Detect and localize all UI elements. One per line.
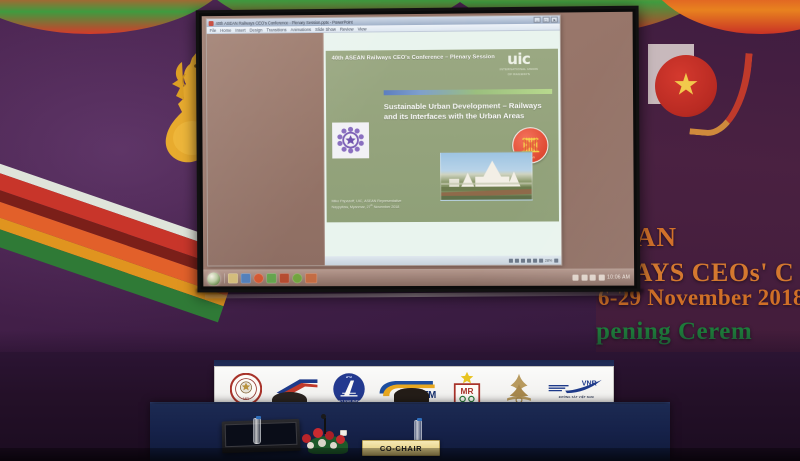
svg-text:MR: MR	[243, 397, 249, 401]
security-icon[interactable]	[590, 275, 596, 281]
backdrop-line-1: AN	[636, 222, 677, 253]
water-bottle-left	[253, 418, 261, 444]
slide-header: 40th ASEAN Railways CEO's Conference – P…	[332, 54, 495, 61]
slide-thumbnail-pane[interactable]	[207, 33, 325, 266]
microphone-stand	[324, 418, 326, 434]
network-icon[interactable]	[573, 275, 579, 281]
foreground-vignette	[0, 448, 800, 461]
conference-hall-scene: ★ AN WAYS CEOs' C 6-29 November 2018 pen…	[0, 0, 800, 461]
close-button[interactable]: ✕	[551, 17, 558, 23]
menu-item-view[interactable]: View	[358, 26, 367, 31]
zoom-level[interactable]: 28%	[545, 258, 552, 262]
uic-logo: uic INTERNATIONAL UNION OF RAILWAYS	[488, 53, 551, 77]
explorer-icon[interactable]	[228, 273, 238, 283]
slide-accent-bar	[384, 89, 552, 95]
ppt-window-button[interactable]	[305, 273, 317, 283]
quick-launch-bar[interactable]	[224, 273, 317, 283]
pagoda-railway-photo	[440, 151, 533, 201]
window-title: 40th ASEAN Railways CEO's Conference - P…	[216, 19, 353, 25]
taskbar-clock[interactable]: 10:06 AM	[607, 275, 630, 281]
uic-subtitle-2: OF RAILWAYS	[488, 72, 550, 77]
powerpoint-status-bar[interactable]: 28%	[325, 256, 561, 266]
browser-icon[interactable]	[241, 273, 251, 283]
slide-canvas-area[interactable]: 40th ASEAN Railways CEO's Conference – P…	[324, 31, 562, 266]
slide-sorter-icon[interactable]	[515, 258, 519, 262]
asean-railways-emblem-icon	[332, 122, 369, 158]
laptop-screen	[225, 422, 298, 447]
red-star-roundel: ★	[655, 55, 717, 117]
svg-text:VNR: VNR	[582, 381, 597, 388]
windows-start-orb[interactable]	[207, 272, 220, 285]
menu-item-home[interactable]: Home	[220, 27, 231, 32]
maximize-button[interactable]: □	[542, 17, 549, 23]
volume-icon[interactable]	[581, 275, 587, 281]
normal-view-icon[interactable]	[509, 258, 513, 262]
slideshow-icon[interactable]	[527, 258, 531, 262]
uic-subtitle-1: INTERNATIONAL UNION	[488, 67, 550, 72]
projection-screen: 🗎 🗀 📎 40th ASEAN Railways CEO's Conferen…	[196, 6, 641, 293]
powerpoint-window[interactable]: 40th ASEAN Railways CEO's Conference - P…	[206, 15, 563, 267]
powerpoint-icon	[209, 21, 214, 26]
presentation-slide[interactable]: 40th ASEAN Railways CEO's Conference – P…	[326, 49, 559, 223]
sponsor-label-vnr-sub: ĐƯỜNG SẮT VIỆT NAM	[559, 396, 594, 399]
menu-item-insert[interactable]: Insert	[235, 27, 245, 32]
windows-taskbar[interactable]: 10:06 AM	[203, 268, 634, 286]
svg-text:ລາວ: ລາວ	[345, 374, 351, 378]
menu-item-design[interactable]: Design	[250, 27, 263, 32]
firefox-icon[interactable]	[254, 273, 264, 283]
star-icon: ★	[673, 70, 700, 100]
minimize-button[interactable]: –	[534, 17, 541, 23]
menu-item-slide-show[interactable]: Slide Show	[315, 26, 336, 31]
reading-view-icon[interactable]	[521, 258, 525, 262]
menu-item-file[interactable]: File	[210, 27, 217, 32]
zoom-in-icon[interactable]	[539, 258, 543, 262]
uic-wordmark: uic	[488, 53, 550, 67]
media-player-icon[interactable]	[267, 273, 277, 283]
slide-title: Sustainable Urban Development – Railways…	[384, 101, 555, 122]
antivirus-icon[interactable]	[292, 273, 302, 283]
zoom-out-icon[interactable]	[533, 258, 537, 262]
microphone-icon	[321, 414, 326, 419]
menu-item-review[interactable]: Review	[340, 26, 354, 31]
bottle-cap-icon	[256, 416, 261, 419]
system-tray[interactable]: 10:06 AM	[573, 275, 630, 281]
fit-slide-icon[interactable]	[554, 258, 558, 262]
window-controls[interactable]: – □ ✕	[534, 17, 558, 23]
menu-item-animations[interactable]: Animations	[291, 27, 312, 32]
svg-text:MR: MR	[461, 386, 474, 396]
byline-location: Naypyitaw, Myanmar, 27th November 2018	[332, 204, 402, 211]
powerpoint-icon[interactable]	[279, 273, 289, 283]
bottle-cap-icon	[417, 418, 422, 421]
battery-icon[interactable]	[598, 275, 604, 281]
slide-byline: Miko Papazoff, UIC, ASEAN Representative…	[332, 199, 402, 211]
menu-item-transitions[interactable]: Transitions	[266, 27, 286, 32]
projected-desktop: 🗎 🗀 📎 40th ASEAN Railways CEO's Conferen…	[202, 12, 635, 287]
